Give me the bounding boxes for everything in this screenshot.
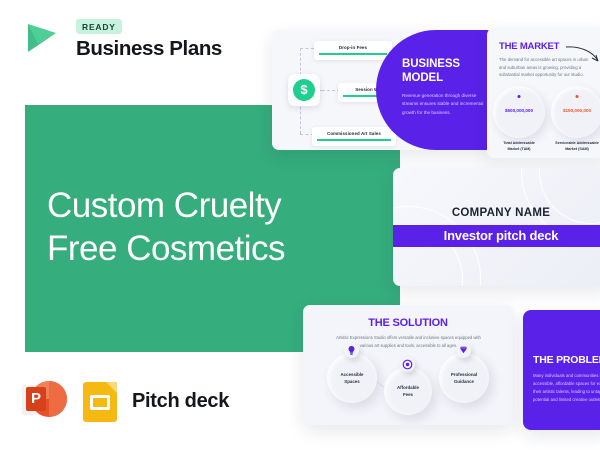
pitch-deck-label: Pitch deck [132,390,229,413]
market-value: $500,000,000 [493,108,545,113]
powerpoint-icon: P [22,378,68,424]
market-caption: Serviceable Addressable Market (SAM) [550,141,600,153]
brand-header: READY Business Plans [18,14,222,62]
market-node-sam: $150,000,000 [551,86,600,138]
ready-badge: READY [76,19,122,34]
brand-text: READY Business Plans [76,15,222,62]
dollar-coin-icon: $ [288,74,320,106]
slide-card-solution: THE SOLUTION Artistic Expressions Studio… [303,305,513,425]
market-value: $150,000,000 [551,108,600,113]
target-icon [400,357,415,372]
play-triangle-logo-icon [18,14,66,62]
poster-canvas: READY Business Plans Custom Cruelty Free… [0,0,600,461]
brand-title: Business Plans [76,37,222,61]
market-heading: THE MARKET [499,41,559,52]
market-node-tam: $500,000,000 [493,86,545,138]
powerpoint-letter: P [26,387,46,411]
slide-card-company-name: COMPANY NAME Investor pitch deck [393,168,600,286]
format-row: P Pitch deck [22,378,229,424]
investor-pitch-band: Investor pitch deck [393,225,600,247]
flow-item: Drop-in Fees [314,41,392,60]
investor-pitch-label: Investor pitch deck [393,225,600,247]
slide-card-business-model: $ Drop-in Fees Session Workshops Commiss… [272,30,494,150]
hero-title: Custom Cruelty Free Cosmetics [47,185,285,270]
business-model-panel: BUSINESS MODEL Revenue generation throug… [376,30,494,150]
business-model-heading: BUSINESS MODEL [402,58,460,86]
solution-node: Professional Guidance [439,353,489,403]
problem-body: Many individuals and communities lack ac… [533,372,600,404]
diamond-icon [456,343,471,358]
lightbulb-icon [344,343,359,358]
google-slides-icon [80,378,120,424]
problem-heading: THE PROBLEM [533,354,600,366]
company-name: COMPANY NAME [393,207,600,219]
solution-node: Affordable Fees [384,367,432,415]
business-model-body: Revenue generation through diverse strea… [402,92,484,117]
slide-card-problem: THE PROBLEM Many individuals and communi… [523,310,600,430]
solution-node: Accessible Spaces [327,353,377,403]
flow-item: Commissioned Art Sales [312,127,396,146]
market-caption: Total Addressable Market (TAM) [492,141,546,153]
solution-heading: THE SOLUTION [303,317,513,329]
market-body: The demand for accessible art spaces in … [499,56,595,79]
slide-card-market: THE MARKET The demand for accessible art… [487,28,600,158]
